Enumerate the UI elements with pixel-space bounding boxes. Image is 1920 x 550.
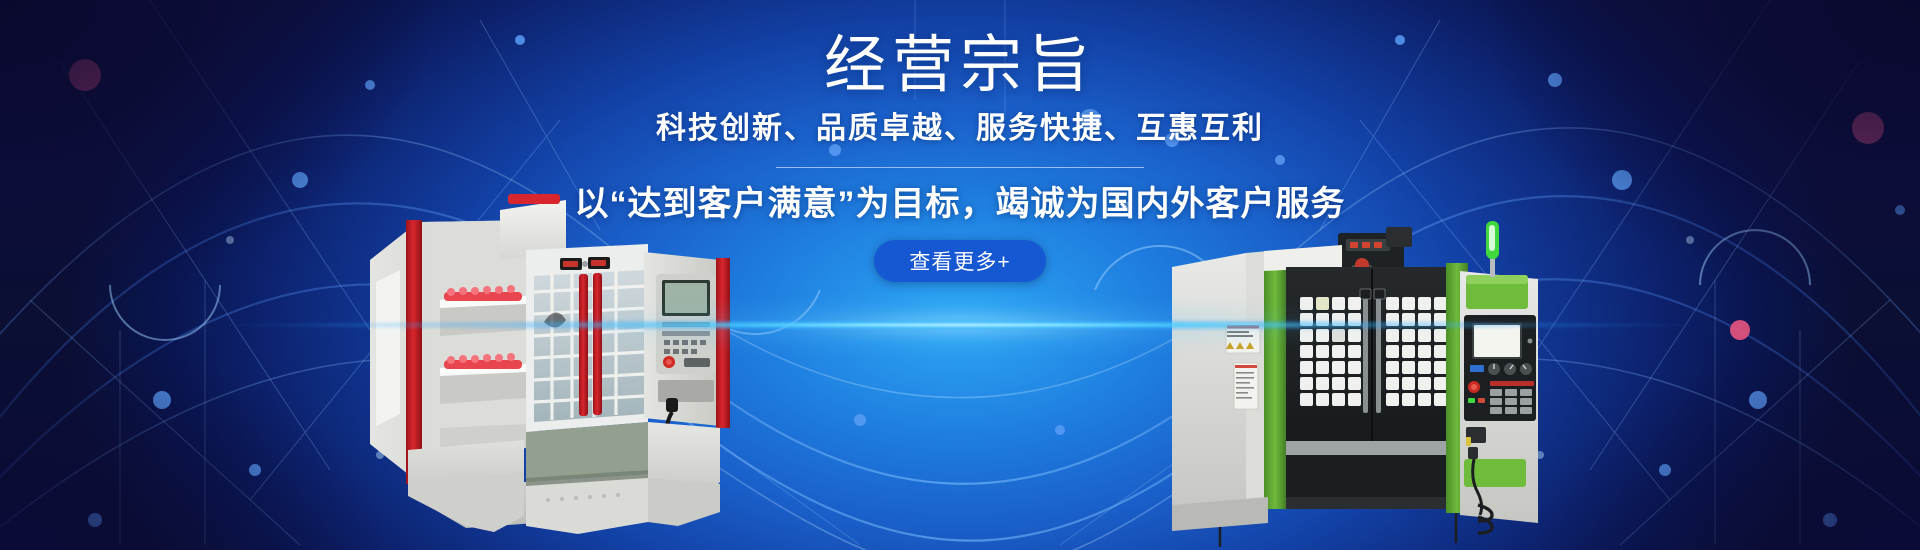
banner-tagline: 以“达到客户满意”为目标，竭诚为国内外客户服务 [0,182,1920,226]
promo-banner: 经营宗旨 科技创新、品质卓越、服务快捷、互惠互利 以“达到客户满意”为目标，竭诚… [0,0,1920,550]
banner-content: 经营宗旨 科技创新、品质卓越、服务快捷、互惠互利 以“达到客户满意”为目标，竭诚… [0,0,1920,550]
page-title: 经营宗旨 [0,30,1920,102]
banner-subtitle: 科技创新、品质卓越、服务快捷、互惠互利 [0,110,1920,148]
view-more-button[interactable]: 查看更多+ [874,240,1046,282]
text-divider [776,167,1144,168]
